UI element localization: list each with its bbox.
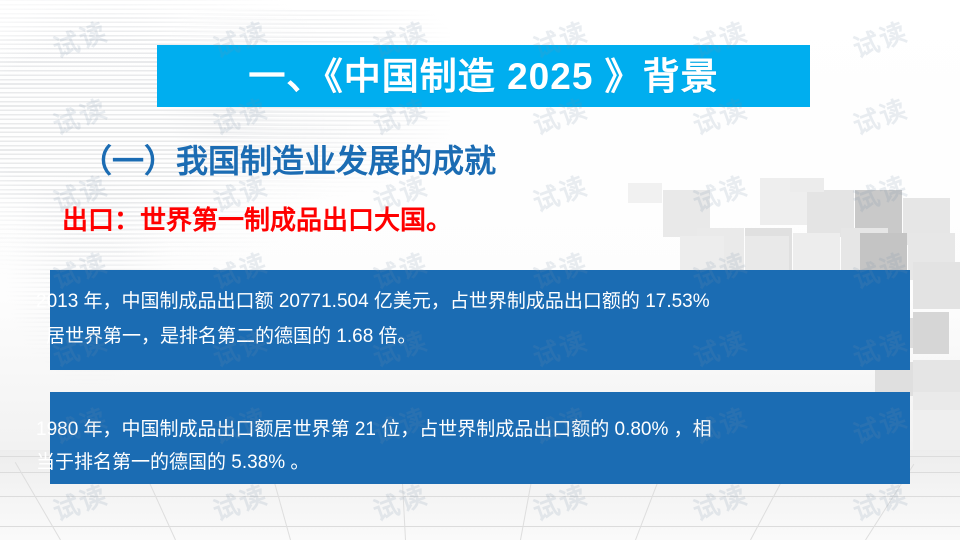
- content-box-2: 1980 年，中国制成品出口额居世界第 21 位，占世界制成品出口额的 0.80…: [50, 392, 910, 484]
- page-title: 一、《中国制造 2025 》背景: [248, 58, 718, 95]
- floor-horizontal-line: [0, 526, 960, 527]
- section-heading: （一）我国制造业发展的成就: [80, 136, 496, 182]
- mosaic-square: [913, 262, 960, 309]
- mosaic-square: [913, 312, 949, 354]
- mosaic-square: [628, 183, 662, 203]
- floor-horizontal-line: [0, 496, 960, 497]
- content-box-1: 2013 年，中国制成品出口额 20771.504 亿美元，占世界制成品出口额的…: [50, 270, 910, 370]
- content-box-2-line-1: 1980 年，中国制成品出口额居世界第 21 位，占世界制成品出口额的 0.80…: [36, 418, 900, 442]
- mosaic-square: [913, 392, 960, 410]
- slide-title-band: 一、《中国制造 2025 》背景: [157, 45, 810, 107]
- presentation-slide: 一、《中国制造 2025 》背景 （一）我国制造业发展的成就 出口：世界第一制成…: [0, 0, 960, 540]
- red-emphasis-heading: 出口：世界第一制成品出口大国。: [62, 200, 452, 237]
- mosaic-square: [790, 178, 824, 192]
- content-box-1-line-1: 2013 年，中国制成品出口额 20771.504 亿美元，占世界制成品出口额的…: [36, 290, 900, 314]
- content-box-1-line-2: 居世界第一，是排名第二的德国的 1.68 倍。: [46, 325, 900, 349]
- mosaic-square: [913, 410, 960, 450]
- content-box-2-line-2: 当于排名第一的德国的 5.38% 。: [36, 451, 900, 475]
